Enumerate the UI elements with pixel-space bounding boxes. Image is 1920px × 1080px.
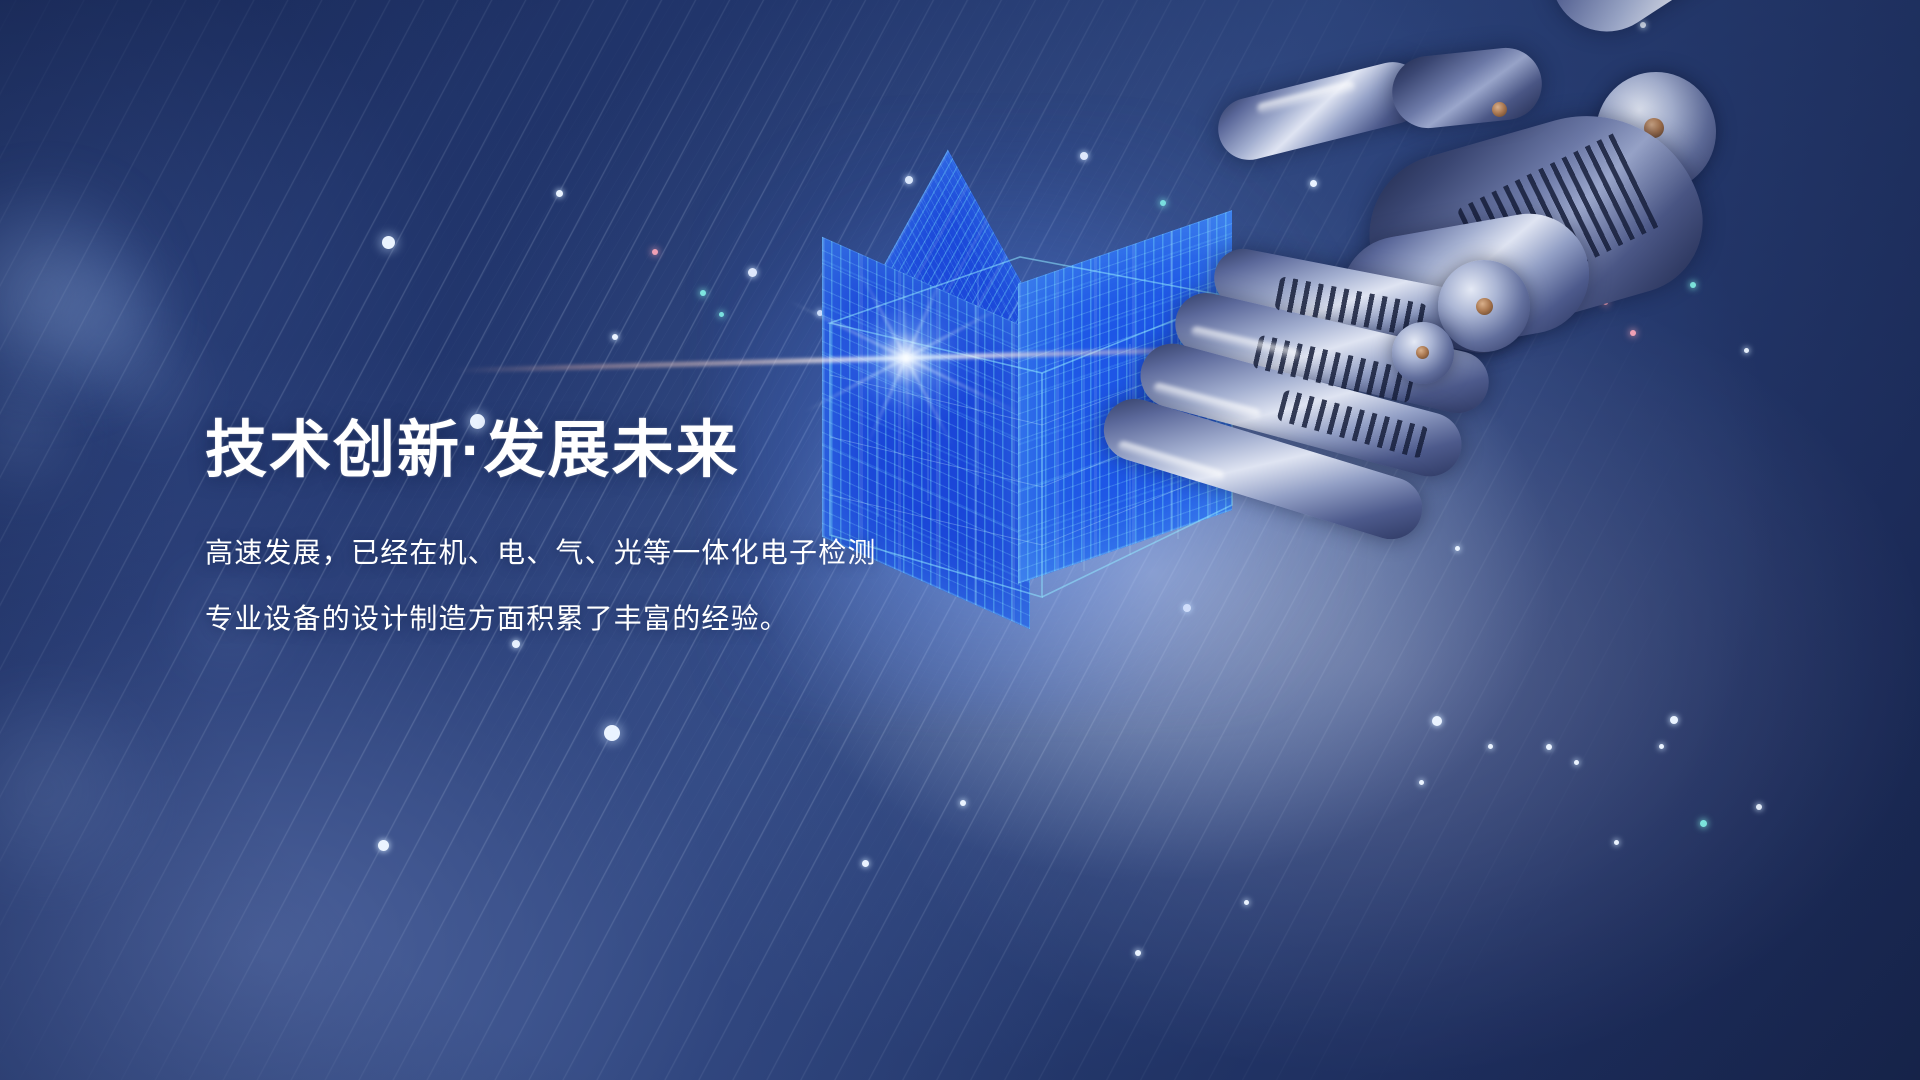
particle-dot (1270, 360, 1276, 366)
subtitle-line: 专业设备的设计制造方面积累了丰富的经验。 (205, 605, 1105, 633)
particle-dot (1310, 180, 1317, 187)
particle-dot (1306, 508, 1312, 514)
particle-dot (382, 236, 395, 249)
particle-dot (612, 334, 618, 340)
robot-finger-highlight (1190, 326, 1299, 360)
particle-dot (700, 290, 706, 296)
robot-finger-4 (1096, 391, 1430, 547)
robot-finger-vents (1276, 389, 1429, 459)
hero-copy: 技术创新·发展未来 高速发展，已经在机、电、气、光等一体化电子检测 专业设备的设… (205, 418, 1105, 633)
subtitle-line: 高速发展，已经在机、电、气、光等一体化电子检测 (205, 539, 1105, 567)
robot-forearm (1530, 0, 1920, 53)
particle-dot (1574, 760, 1579, 765)
bokeh-circle (96, 330, 206, 440)
particle-dot (1418, 446, 1425, 453)
bokeh-circle (0, 690, 160, 890)
robot-finger-2 (1169, 287, 1495, 419)
robot-finger-highlight (1117, 440, 1225, 482)
robot-rivet (1476, 298, 1493, 315)
particle-dot (652, 249, 658, 255)
page-title: 技术创新·发展未来 (205, 418, 1105, 483)
particle-dot (1630, 330, 1636, 336)
robot-finger-3 (1133, 336, 1468, 483)
particle-dot (604, 725, 620, 741)
robot-finger-highlight (1153, 382, 1262, 420)
particle-dot (1690, 282, 1696, 288)
robot-finger-1 (1209, 244, 1515, 358)
particle-dot (1683, 135, 1688, 140)
particle-dot (1135, 950, 1141, 956)
robot-elbow-joint (1596, 72, 1716, 192)
robot-vent-grille (1456, 131, 1663, 303)
robot-finger-vents (1274, 276, 1428, 338)
robot-palm (1331, 204, 1598, 366)
particle-dot (1659, 744, 1664, 749)
light-burst (831, 283, 981, 433)
particle-dot (1744, 348, 1749, 353)
particle-dot (862, 860, 869, 867)
particle-dot (1603, 300, 1608, 305)
particle-dot (1488, 744, 1493, 749)
robot-finger-highlight (1256, 80, 1356, 115)
hero-banner: 技术创新·发展未来 高速发展，已经在机、电、气、光等一体化电子检测 专业设备的设… (0, 0, 1920, 1080)
robot-finger-thumb-distal (1212, 56, 1431, 167)
particle-dot (1432, 716, 1442, 726)
particle-dot (1455, 546, 1460, 551)
particle-dot (556, 190, 563, 197)
particle-dot (719, 312, 724, 317)
particle-dot (1700, 820, 1707, 827)
particle-dot (1419, 780, 1424, 785)
robot-rivet (1416, 346, 1429, 359)
particle-dot (1398, 202, 1404, 208)
particle-dot (1160, 200, 1166, 206)
particle-dot (960, 800, 966, 806)
particle-dot (378, 840, 389, 851)
particle-dot (1442, 286, 1447, 291)
bokeh-circle (0, 372, 80, 492)
particle-dot (1614, 840, 1619, 845)
robot-rivet (1492, 102, 1507, 117)
particle-dot (1640, 22, 1646, 28)
robot-hand-back (1350, 88, 1720, 362)
bokeh-circle (30, 250, 180, 400)
particle-dot (1546, 744, 1552, 750)
particle-dot (1186, 382, 1191, 387)
particle-dot (748, 268, 757, 277)
robot-rivet (1644, 118, 1664, 138)
hero-subtitle: 高速发展，已经在机、电、气、光等一体化电子检测 专业设备的设计制造方面积累了丰富… (205, 539, 1105, 633)
robot-knuckle-joint (1392, 322, 1454, 384)
particle-dot (1244, 900, 1249, 905)
particle-dot (512, 640, 520, 648)
robot-finger-thumb-proximal (1389, 44, 1546, 131)
bokeh-circle (0, 190, 150, 400)
particle-dot (1756, 804, 1762, 810)
particle-dot (1236, 265, 1242, 271)
particle-dot (1183, 604, 1191, 612)
robot-knuckle-joint (1438, 260, 1530, 352)
particle-dot (1162, 470, 1171, 479)
particle-dot (1080, 152, 1088, 160)
particle-dot (1670, 716, 1678, 724)
robotic-hand (1040, 0, 1920, 760)
particle-dot (905, 176, 913, 184)
